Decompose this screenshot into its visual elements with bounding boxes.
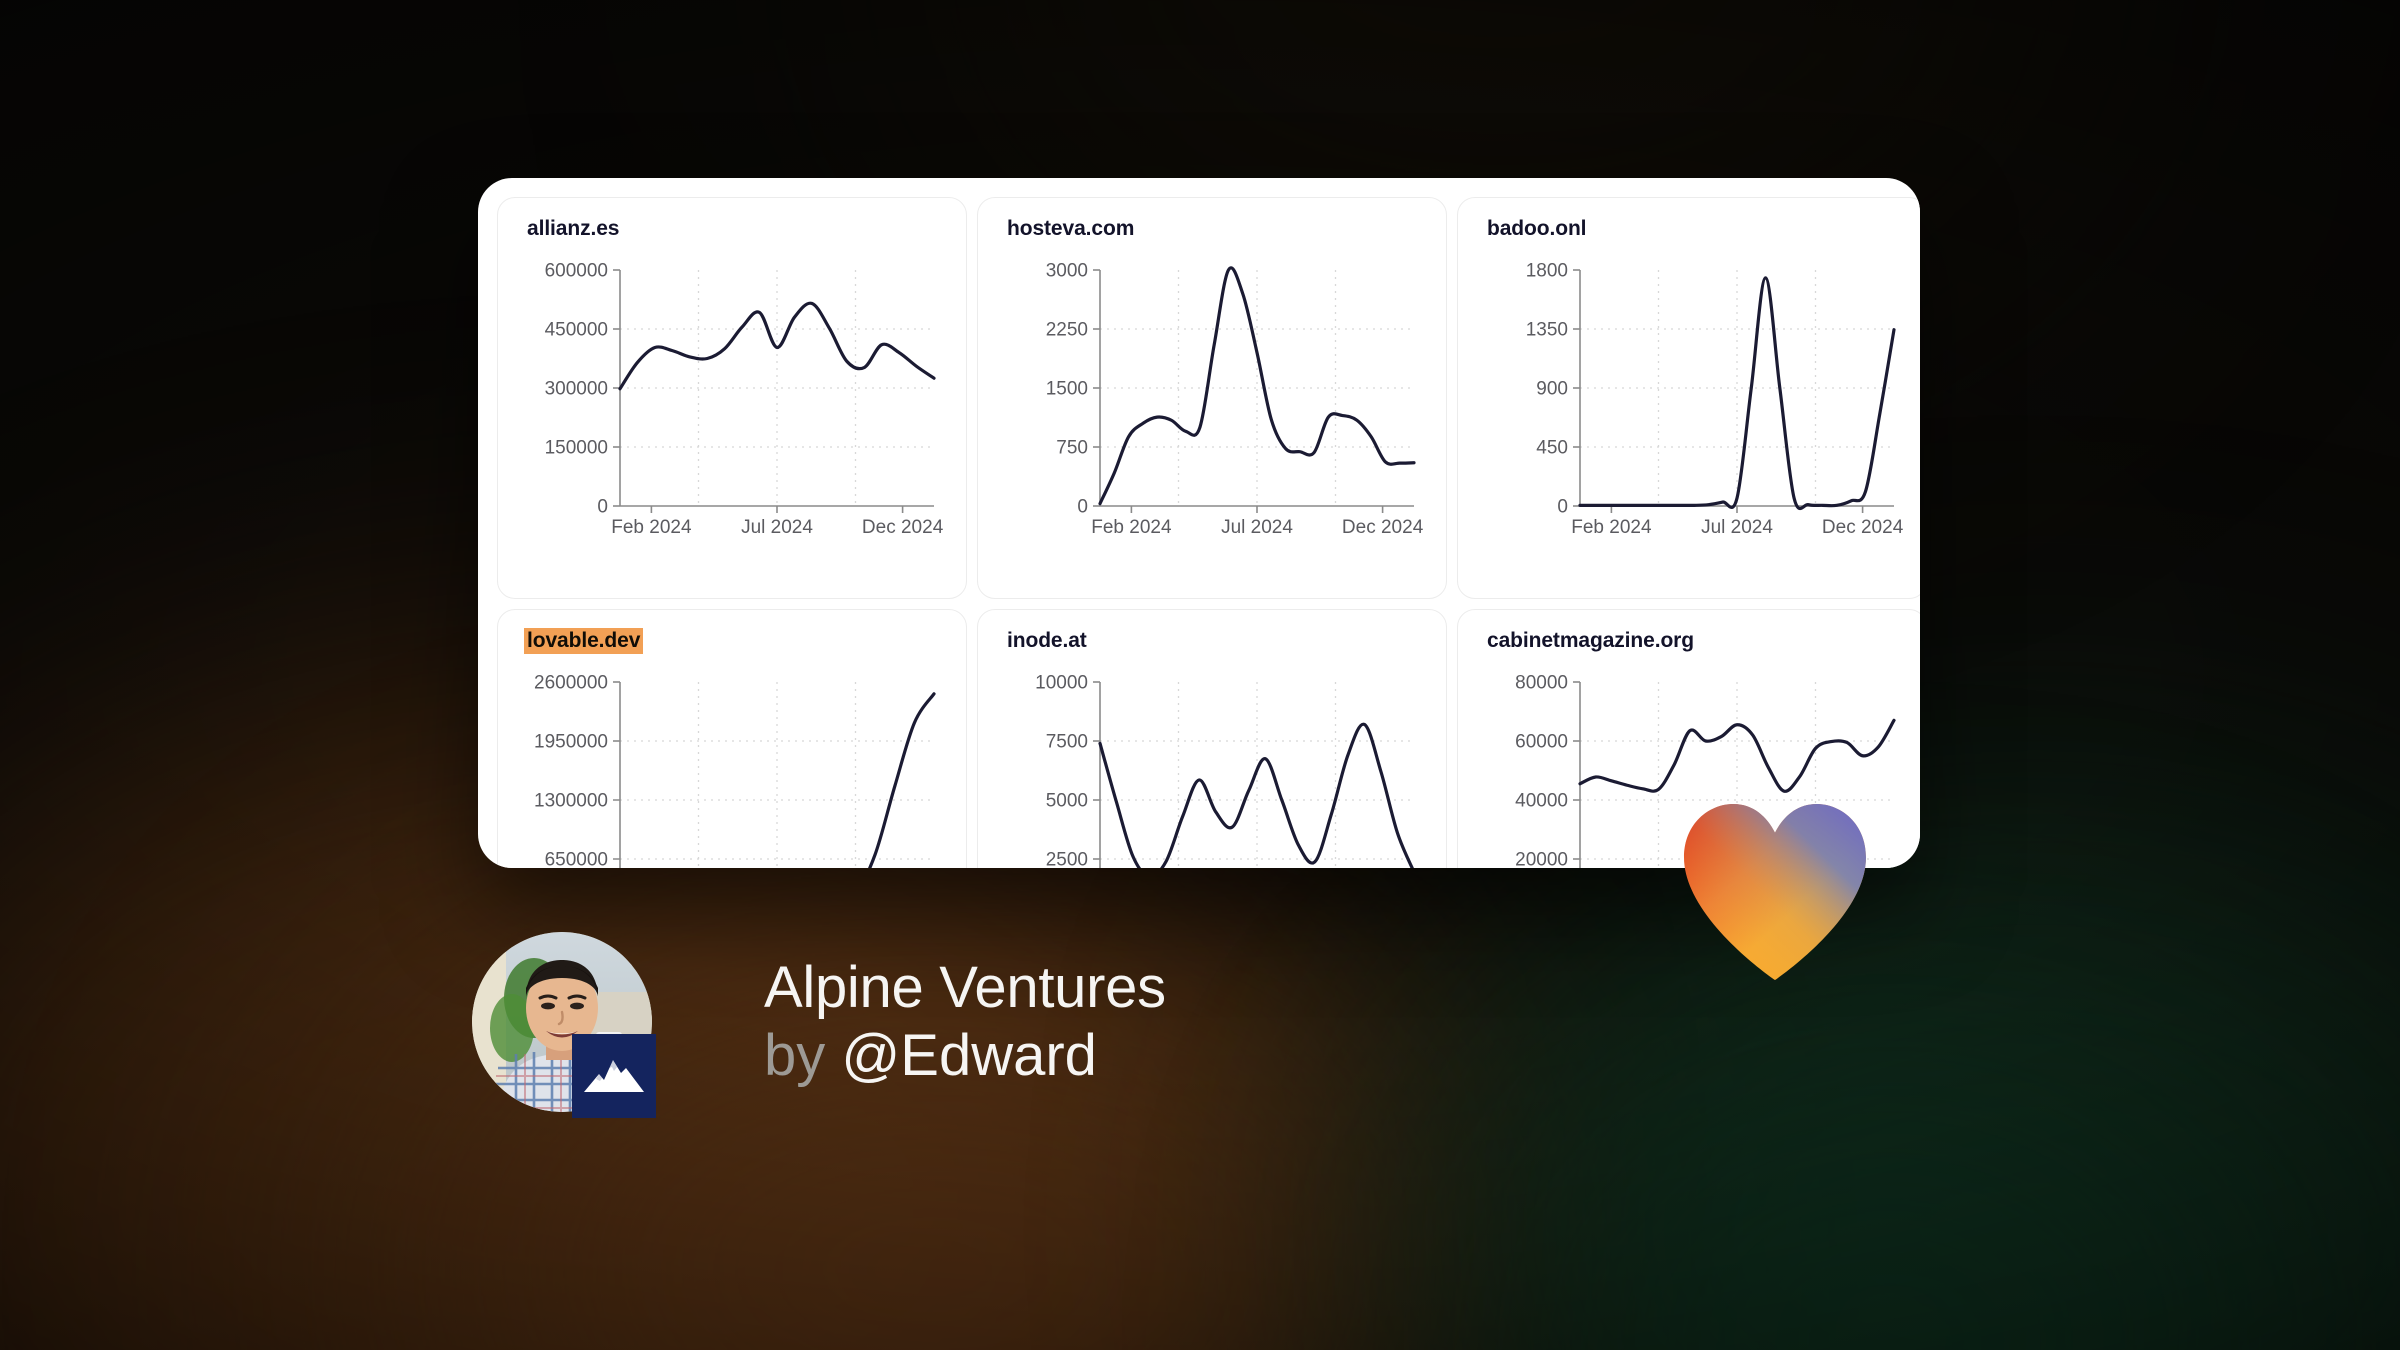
chart-line-series <box>1100 268 1414 504</box>
chart-panel[interactable]: inode.at25005000750010000Feb 2024Jul 202… <box>977 609 1447 868</box>
y-tick-label: 1950000 <box>534 732 608 753</box>
y-tick-label: 300000 <box>545 379 608 400</box>
y-tick-label: 10000 <box>1035 673 1088 694</box>
x-tick-label: Jul 2024 <box>1701 517 1773 538</box>
chart-title: inode.at <box>1004 628 1090 654</box>
y-tick-label: 1350 <box>1526 320 1568 341</box>
y-tick-label: 0 <box>1077 497 1088 518</box>
x-tick-label: Jul 2024 <box>741 517 813 538</box>
chart-title: hosteva.com <box>1004 216 1137 242</box>
y-tick-label: 60000 <box>1515 732 1568 753</box>
y-tick-label: 3000 <box>1046 261 1088 282</box>
avatar-wrapper <box>472 932 652 1112</box>
y-tick-label: 1800 <box>1526 261 1568 282</box>
page-title: Alpine Ventures <box>764 958 1166 1018</box>
y-tick-label: 450 <box>1536 438 1568 459</box>
chart-plot: 045090013501800Feb 2024Jul 2024Dec 2024 <box>1472 254 1912 564</box>
byline-author: by @Edward <box>764 1026 1166 1086</box>
y-tick-label: 650000 <box>545 850 608 869</box>
chart-plot: 0750150022503000Feb 2024Jul 2024Dec 2024 <box>992 254 1432 564</box>
y-tick-label: 150000 <box>545 438 608 459</box>
chart-title: cabinetmagazine.org <box>1484 628 1697 654</box>
chart-plot: 650000130000019500002600000Feb 2024Jul 2… <box>512 666 952 868</box>
y-tick-label: 750 <box>1056 438 1088 459</box>
chart-panel[interactable]: hosteva.com0750150022503000Feb 2024Jul 2… <box>977 197 1447 599</box>
y-tick-label: 0 <box>1557 497 1568 518</box>
mountain-icon <box>572 1034 656 1118</box>
dashboard-card: allianz.es0150000300000450000600000Feb 2… <box>478 178 1920 868</box>
chart-plot: 0150000300000450000600000Feb 2024Jul 202… <box>512 254 952 564</box>
x-tick-label: Dec 2024 <box>862 517 944 538</box>
chart-panel[interactable]: allianz.es0150000300000450000600000Feb 2… <box>497 197 967 599</box>
y-tick-label: 450000 <box>545 320 608 341</box>
byline-text: Alpine Ventures by @Edward <box>764 958 1166 1087</box>
byline-by-label: by <box>764 1023 825 1088</box>
y-tick-label: 1300000 <box>534 791 608 812</box>
y-tick-label: 20000 <box>1515 850 1568 869</box>
chart-title: badoo.onl <box>1484 216 1589 242</box>
y-tick-label: 80000 <box>1515 673 1568 694</box>
x-tick-label: Feb 2024 <box>611 517 692 538</box>
y-tick-label: 40000 <box>1515 791 1568 812</box>
x-tick-label: Dec 2024 <box>1342 517 1424 538</box>
chart-panel[interactable]: lovable.dev650000130000019500002600000Fe… <box>497 609 967 868</box>
y-tick-label: 7500 <box>1046 732 1088 753</box>
y-tick-label: 900 <box>1536 379 1568 400</box>
chart-plot: 25005000750010000Feb 2024Jul 2024Dec 202… <box>992 666 1432 868</box>
chart-title: lovable.dev <box>524 628 643 654</box>
x-tick-label: Feb 2024 <box>1091 517 1172 538</box>
byline: Alpine Ventures by @Edward <box>472 932 1166 1112</box>
y-tick-label: 5000 <box>1046 791 1088 812</box>
y-tick-label: 0 <box>597 497 608 518</box>
x-tick-label: Feb 2024 <box>1571 517 1652 538</box>
chart-panel[interactable]: badoo.onl045090013501800Feb 2024Jul 2024… <box>1457 197 1920 599</box>
y-tick-label: 600000 <box>545 261 608 282</box>
x-tick-label: Jul 2024 <box>1221 517 1293 538</box>
y-tick-label: 2500 <box>1046 850 1088 869</box>
y-tick-label: 2250 <box>1046 320 1088 341</box>
y-tick-label: 2600000 <box>534 673 608 694</box>
byline-handle: @Edward <box>841 1023 1097 1088</box>
y-tick-label: 1500 <box>1046 379 1088 400</box>
x-tick-label: Dec 2024 <box>1822 517 1904 538</box>
heart-icon[interactable] <box>1676 800 1874 982</box>
chart-title: allianz.es <box>524 216 622 242</box>
chart-grid: allianz.es0150000300000450000600000Feb 2… <box>478 178 1920 868</box>
